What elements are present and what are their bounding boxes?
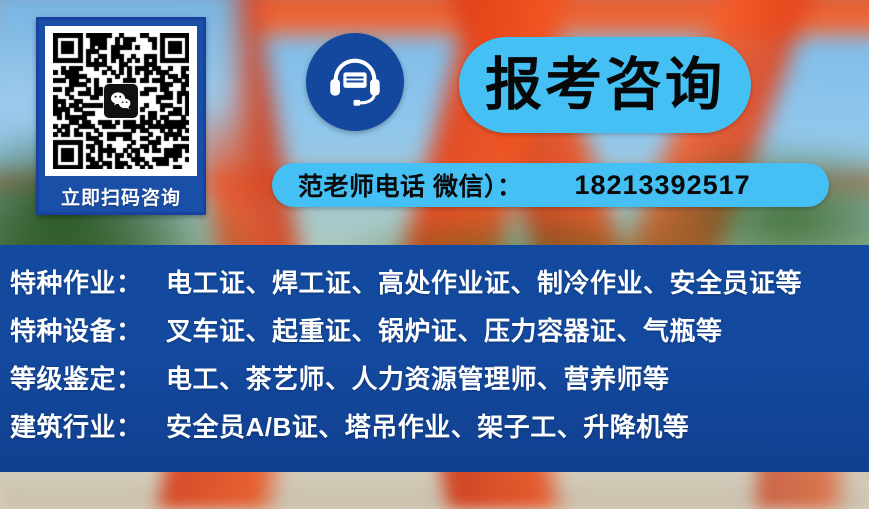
service-row: 特种作业： 电工证、焊工证、高处作业证、制冷作业、安全员证等 bbox=[10, 263, 869, 311]
qr-caption: 立即扫码咨询 bbox=[61, 183, 181, 210]
headset-support-icon bbox=[306, 33, 404, 131]
service-row-value: 安全员A/B证、塔吊作业、架子工、升降机等 bbox=[166, 407, 689, 444]
contact-phone-number[interactable]: 18213392517 bbox=[574, 170, 750, 201]
service-row-label: 特种作业： bbox=[10, 263, 162, 300]
service-row: 等级鉴定： 电工、茶艺师、人力资源管理师、营养师等 bbox=[10, 359, 869, 407]
service-row-value: 电工证、焊工证、高处作业证、制冷作业、安全员证等 bbox=[166, 263, 802, 300]
page-title: 报考咨询 bbox=[485, 57, 725, 114]
qr-code-image bbox=[53, 33, 189, 169]
service-row: 建筑行业： 安全员A/B证、塔吊作业、架子工、升降机等 bbox=[10, 407, 869, 455]
service-row-label: 等级鉴定： bbox=[10, 359, 162, 396]
service-row-label: 特种设备： bbox=[10, 311, 162, 348]
service-row-label: 建筑行业： bbox=[10, 407, 162, 444]
service-row-value: 电工、茶艺师、人力资源管理师、营养师等 bbox=[166, 359, 670, 396]
qr-code-frame bbox=[45, 26, 197, 176]
promo-poster: 立即扫码咨询 报考咨询 范老师电话 微信）： 18213392517 特种作业：… bbox=[0, 0, 869, 509]
title-pill: 报考咨询 bbox=[459, 37, 751, 133]
qr-card[interactable]: 立即扫码咨询 bbox=[36, 17, 206, 215]
service-row-value: 叉车证、起重证、锅炉证、压力容器证、气瓶等 bbox=[166, 311, 723, 348]
service-row: 特种设备： 叉车证、起重证、锅炉证、压力容器证、气瓶等 bbox=[10, 311, 869, 359]
services-panel: 特种作业： 电工证、焊工证、高处作业证、制冷作业、安全员证等 特种设备： 叉车证… bbox=[0, 245, 869, 472]
wechat-icon bbox=[104, 84, 138, 118]
contact-pill[interactable]: 范老师电话 微信）： 18213392517 bbox=[272, 163, 829, 207]
contact-label: 范老师电话 微信）： bbox=[298, 167, 522, 203]
